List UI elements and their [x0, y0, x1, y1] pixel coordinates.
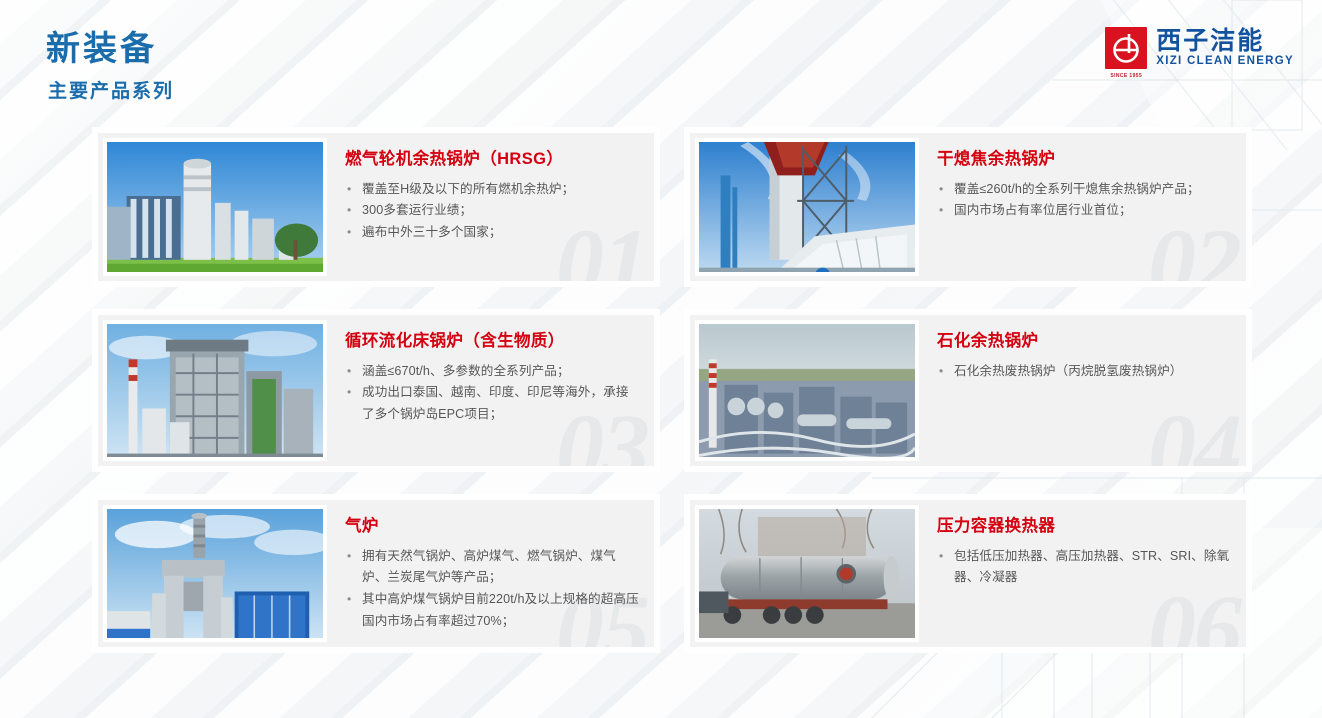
product-title: 石化余热锅炉 [937, 332, 1232, 352]
product-photo [695, 138, 919, 276]
product-feature-item: 遍布中外三十多个国家； [345, 222, 640, 244]
product-feature-item: 其中高炉煤气锅炉目前220t/h及以上规格的超高压国内市场占有率超过70%； [345, 589, 640, 632]
product-card[interactable]: 06 [684, 494, 1252, 653]
product-feature-item: 石化余热废热锅炉（丙烷脱氢废热锅炉） [937, 361, 1232, 383]
product-card-body: 燃气轮机余热锅炉（HRSG）覆盖至H级及以下的所有燃机余热炉；300多套运行业绩… [327, 133, 654, 281]
product-card-body: 气炉拥有天然气锅炉、高炉煤气、燃气锅炉、煤气炉、兰炭尾气炉等产品；其中高炉煤气锅… [327, 500, 654, 647]
product-feature-item: 覆盖≤260t/h的全系列干熄焦余热锅炉产品； [937, 179, 1232, 201]
product-title: 燃气轮机余热锅炉（HRSG） [345, 150, 640, 170]
product-card-grid: 01 燃气轮机余热锅炉（HRSG）覆盖至H级及以下的所有燃机余热炉；300多套运… [92, 127, 1252, 653]
logo-e-glyph-icon [1105, 27, 1147, 69]
product-card-body: 循环流化床锅炉（含生物质）涵盖≤670t/h、多参数的全系列产品；成功出口泰国、… [327, 315, 654, 466]
product-card[interactable]: 04 石化余热锅炉石化余热废热锅炉（丙烷脱氢废热锅炉） [684, 309, 1252, 472]
product-title: 气炉 [345, 517, 640, 537]
page-header: 新装备 主要产品系列 SINCE 1955 西子洁能 XIZI CLEAN EN… [0, 0, 1322, 118]
product-feature-list: 覆盖至H级及以下的所有燃机余热炉；300多套运行业绩；遍布中外三十多个国家； [345, 179, 640, 244]
product-card-body: 压力容器换热器包括低压加热器、高压加热器、STR、SRI、除氧器、冷凝器 [919, 500, 1246, 647]
product-photo [695, 320, 919, 461]
product-title: 压力容器换热器 [937, 517, 1232, 537]
product-title: 干熄焦余热锅炉 [937, 150, 1232, 170]
product-feature-item: 成功出口泰国、越南、印度、印尼等海外，承接了多个锅炉岛EPC项目； [345, 382, 640, 425]
product-feature-item: 包括低压加热器、高压加热器、STR、SRI、除氧器、冷凝器 [937, 546, 1232, 589]
logo-name-en: XIZI CLEAN ENERGY [1156, 55, 1294, 68]
product-card[interactable]: 03 循环流化床锅炉（含生物质）涵盖≤670t/h、多参数的全系列产品；成功出口… [92, 309, 660, 472]
product-feature-item: 拥有天然气锅炉、高炉煤气、燃气锅炉、煤气炉、兰炭尾气炉等产品； [345, 546, 640, 589]
logo-since-text: SINCE 1955 [1105, 73, 1147, 79]
product-card-body: 干熄焦余热锅炉覆盖≤260t/h的全系列干熄焦余热锅炉产品；国内市场占有率位居行… [919, 133, 1246, 281]
product-feature-item: 300多套运行业绩； [345, 200, 640, 222]
product-card-body: 石化余热锅炉石化余热废热锅炉（丙烷脱氢废热锅炉） [919, 315, 1246, 466]
product-feature-list: 涵盖≤670t/h、多参数的全系列产品；成功出口泰国、越南、印度、印尼等海外，承… [345, 361, 640, 426]
logo-mark: SINCE 1955 [1105, 27, 1147, 79]
product-feature-item: 涵盖≤670t/h、多参数的全系列产品； [345, 361, 640, 383]
brand-logo: SINCE 1955 西子洁能 XIZI CLEAN ENERGY [1105, 27, 1294, 79]
logo-wordmark: 西子洁能 XIZI CLEAN ENERGY [1156, 27, 1294, 68]
product-card[interactable]: 01 燃气轮机余热锅炉（HRSG）覆盖至H级及以下的所有燃机余热炉；300多套运… [92, 127, 660, 287]
product-card[interactable]: 05 气炉拥有天然气锅炉、高炉煤气、燃气锅炉、煤气炉、兰炭尾气炉等产品 [92, 494, 660, 653]
product-photo [103, 320, 327, 461]
product-photo [103, 505, 327, 642]
logo-square-icon [1105, 27, 1147, 69]
product-feature-list: 包括低压加热器、高压加热器、STR、SRI、除氧器、冷凝器 [937, 546, 1232, 589]
logo-name-cn: 西子洁能 [1156, 28, 1294, 54]
product-photo [695, 505, 919, 642]
product-title: 循环流化床锅炉（含生物质） [345, 332, 640, 352]
product-photo [103, 138, 327, 276]
product-feature-list: 拥有天然气锅炉、高炉煤气、燃气锅炉、煤气炉、兰炭尾气炉等产品；其中高炉煤气锅炉目… [345, 546, 640, 633]
product-feature-list: 覆盖≤260t/h的全系列干熄焦余热锅炉产品；国内市场占有率位居行业首位； [937, 179, 1232, 222]
product-feature-list: 石化余热废热锅炉（丙烷脱氢废热锅炉） [937, 361, 1232, 383]
page-title: 新装备 [46, 32, 157, 66]
product-feature-item: 覆盖至H级及以下的所有燃机余热炉； [345, 179, 640, 201]
product-card[interactable]: 02 干熄焦余热锅炉覆盖≤260t/h的全系列干熄焦余热锅炉产品； [684, 127, 1252, 287]
product-feature-item: 国内市场占有率位居行业首位； [937, 200, 1232, 222]
page-subtitle: 主要产品系列 [48, 82, 174, 101]
